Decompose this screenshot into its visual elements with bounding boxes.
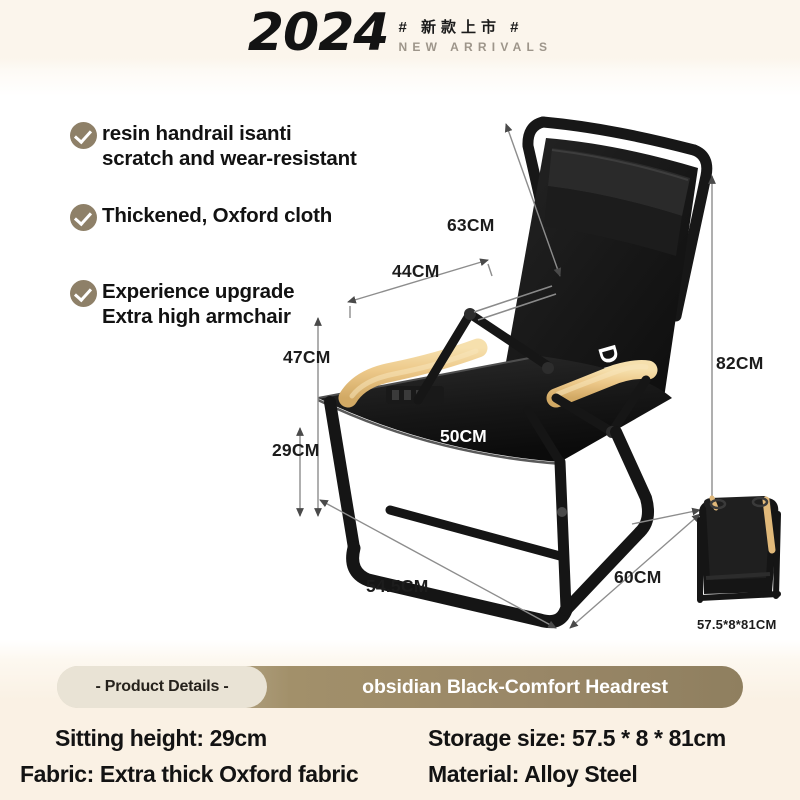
chair-product-illustration: DINGLA 50CM [0,80,800,650]
year-heading: 2024 [248,7,389,59]
dimension-label-armrest-length: 44CM [392,261,439,282]
dimension-label-base-depth: 54.5CM [366,576,428,597]
header-taglines: # 新款上市 # NEW ARRIVALS [399,19,553,54]
product-details-label: - Product Details - [95,678,228,696]
frame-pivot-dot [557,507,567,517]
spec-sitting-height: Sitting height: 29cm [55,725,267,752]
header-banner: 2024 # 新款上市 # NEW ARRIVALS [0,0,800,70]
spec-storage-size: Storage size: 57.5 * 8 * 81cm [428,725,726,752]
product-infographic: 2024 # 新款上市 # NEW ARRIVALS resin handrai… [0,0,800,800]
dimension-label-seat-width: 50CM [440,426,487,446]
product-variant-title: obsidian Black-Comfort Headrest [287,666,743,708]
dimension-label-seat-height: 29CM [272,440,319,461]
dimension-label-folded-size: 57.5*8*81CM [697,617,777,632]
english-tagline: NEW ARRIVALS [399,40,553,54]
spec-fabric: Fabric: Extra thick Oxford fabric [20,761,358,788]
product-details-pill: - Product Details - [57,666,267,708]
product-details-banner: - Product Details - obsidian Black-Comfo… [57,666,743,708]
chinese-tagline: # 新款上市 # [399,19,553,37]
dimension-label-backrest-height: 63CM [447,215,494,236]
dimension-label-total-height: 82CM [716,353,763,374]
dimension-label-base-width: 60CM [614,567,661,588]
spec-material: Material: Alloy Steel [428,761,637,788]
dimension-label-armrest-height: 47CM [283,347,330,368]
folded-chair-inset [699,496,778,600]
